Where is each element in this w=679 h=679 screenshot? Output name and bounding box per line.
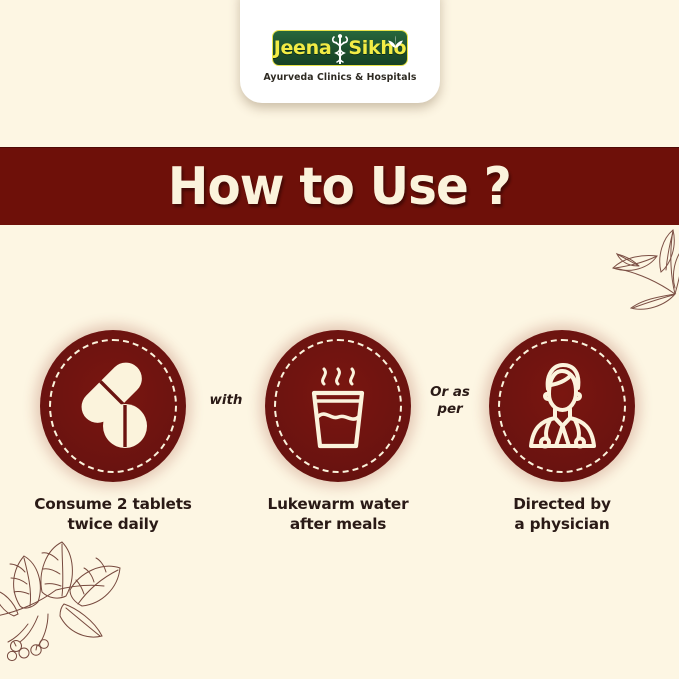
leaf-branch-icon xyxy=(579,222,679,322)
usage-steps: Consume 2 tablets twice daily with xyxy=(0,330,679,535)
caduceus-icon xyxy=(330,32,350,66)
step-icon-circle xyxy=(265,330,411,482)
step-icon-circle xyxy=(489,330,635,482)
step-label-line-1: Directed by xyxy=(513,495,611,515)
step-label: Consume 2 tablets twice daily xyxy=(34,495,191,534)
pills-icon xyxy=(67,360,159,452)
step-label-line-2: a physician xyxy=(513,515,611,535)
brand-badge: Jeena Sikho xyxy=(272,30,408,66)
how-to-use-banner: How to Use ? xyxy=(0,147,679,225)
step-label-line-2: twice daily xyxy=(34,515,191,535)
brand-word-jeena: Jeena xyxy=(274,39,332,58)
hot-water-glass-icon xyxy=(294,360,382,452)
page-title: How to Use ? xyxy=(168,161,511,213)
leaf-icon xyxy=(387,35,404,49)
botanical-leaf-cluster-icon xyxy=(0,520,134,670)
jeena-sikho-logo-card: Jeena Sikho Ayurveda Clinics & Hospitals xyxy=(240,0,440,103)
step-label: Directed by a physician xyxy=(513,495,611,534)
logo-subtitle: Ayurveda Clinics & Hospitals xyxy=(263,72,416,83)
step-consume-tablets: Consume 2 tablets twice daily xyxy=(13,330,213,534)
step-label-line-2: after meals xyxy=(268,515,409,535)
step-lukewarm-water: Lukewarm water after meals xyxy=(238,330,438,534)
step-icon-circle xyxy=(40,330,186,482)
step-label-line-1: Consume 2 tablets xyxy=(34,495,191,515)
step-label-line-1: Lukewarm water xyxy=(268,495,409,515)
doctor-icon xyxy=(513,358,611,454)
step-directed-by-physician: Directed by a physician xyxy=(462,330,662,534)
step-label: Lukewarm water after meals xyxy=(268,495,409,534)
